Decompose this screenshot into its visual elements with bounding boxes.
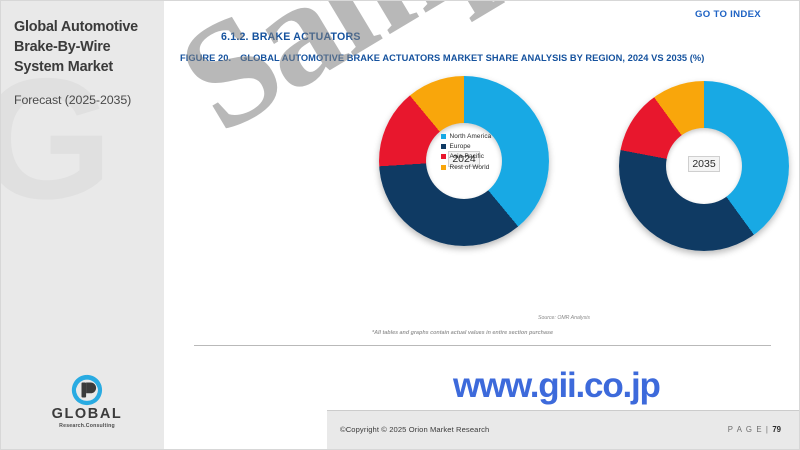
report-subtitle: Forecast (2025-2035) <box>14 93 160 107</box>
legend-swatch-icon <box>441 165 446 170</box>
legend-swatch-icon <box>441 134 446 139</box>
chart-area: 2024 2035 North AmericaEuropeAsia-Pacifi… <box>164 69 800 279</box>
figure-number: FIGURE 20. <box>180 53 231 63</box>
legend-item-label: Asia-Pacific <box>450 153 485 160</box>
footer: ©Copyright © 2025 Orion Market Research … <box>327 410 799 449</box>
donut-center-year-2035: 2035 <box>619 158 789 170</box>
footer-copyright: ©Copyright © 2025 Orion Market Research <box>340 425 489 434</box>
legend-item-label: Rest of World <box>450 164 490 171</box>
figure-title-text: GLOBAL AUTOMOTIVE BRAKE ACTUATORS MARKET… <box>240 53 704 63</box>
legend-swatch-icon <box>441 154 446 159</box>
footer-page-indicator: P A G E | 79 <box>728 425 781 434</box>
legend-item-label: Europe <box>450 143 471 150</box>
page-label: P A G E | <box>728 425 769 434</box>
main-content: GO TO INDEX 6.1.2. BRAKE ACTUATORS FIGUR… <box>164 1 799 449</box>
slide-page: G Global Automotive Brake-By-Wire System… <box>0 0 800 450</box>
goto-index-link[interactable]: GO TO INDEX <box>695 9 761 20</box>
company-logo: GLOBAL Research.Consulting <box>45 374 129 429</box>
legend-item[interactable]: North America <box>441 133 491 140</box>
legend-item-label: North America <box>450 133 492 140</box>
figure-caption: FIGURE 20.GLOBAL AUTOMOTIVE BRAKE ACTUAT… <box>180 53 704 63</box>
logo-tagline: Research.Consulting <box>45 423 129 429</box>
globe-logo-icon <box>68 374 106 406</box>
legend-swatch-icon <box>441 144 446 149</box>
disclaimer-note: *All tables and graphs contain actual va… <box>372 330 553 336</box>
page-number: 79 <box>772 425 781 434</box>
chart-legend: North AmericaEuropeAsia-PacificRest of W… <box>441 133 491 174</box>
source-note: Source: OMR Analysis <box>538 315 590 321</box>
legend-item[interactable]: Europe <box>441 143 491 150</box>
legend-item[interactable]: Asia-Pacific <box>441 153 491 160</box>
legend-item[interactable]: Rest of World <box>441 164 491 171</box>
gii-url[interactable]: www.gii.co.jp <box>453 366 660 406</box>
donut-chart-2035[interactable]: 2035 <box>619 81 789 251</box>
sidebar: G Global Automotive Brake-By-Wire System… <box>1 1 164 449</box>
report-title: Global Automotive Brake-By-Wire System M… <box>14 17 160 77</box>
logo-wordmark: GLOBAL <box>45 407 129 422</box>
horizontal-divider <box>194 345 771 346</box>
sidebar-ghost-letter: G <box>1 53 105 225</box>
section-heading: 6.1.2. BRAKE ACTUATORS <box>221 31 361 43</box>
